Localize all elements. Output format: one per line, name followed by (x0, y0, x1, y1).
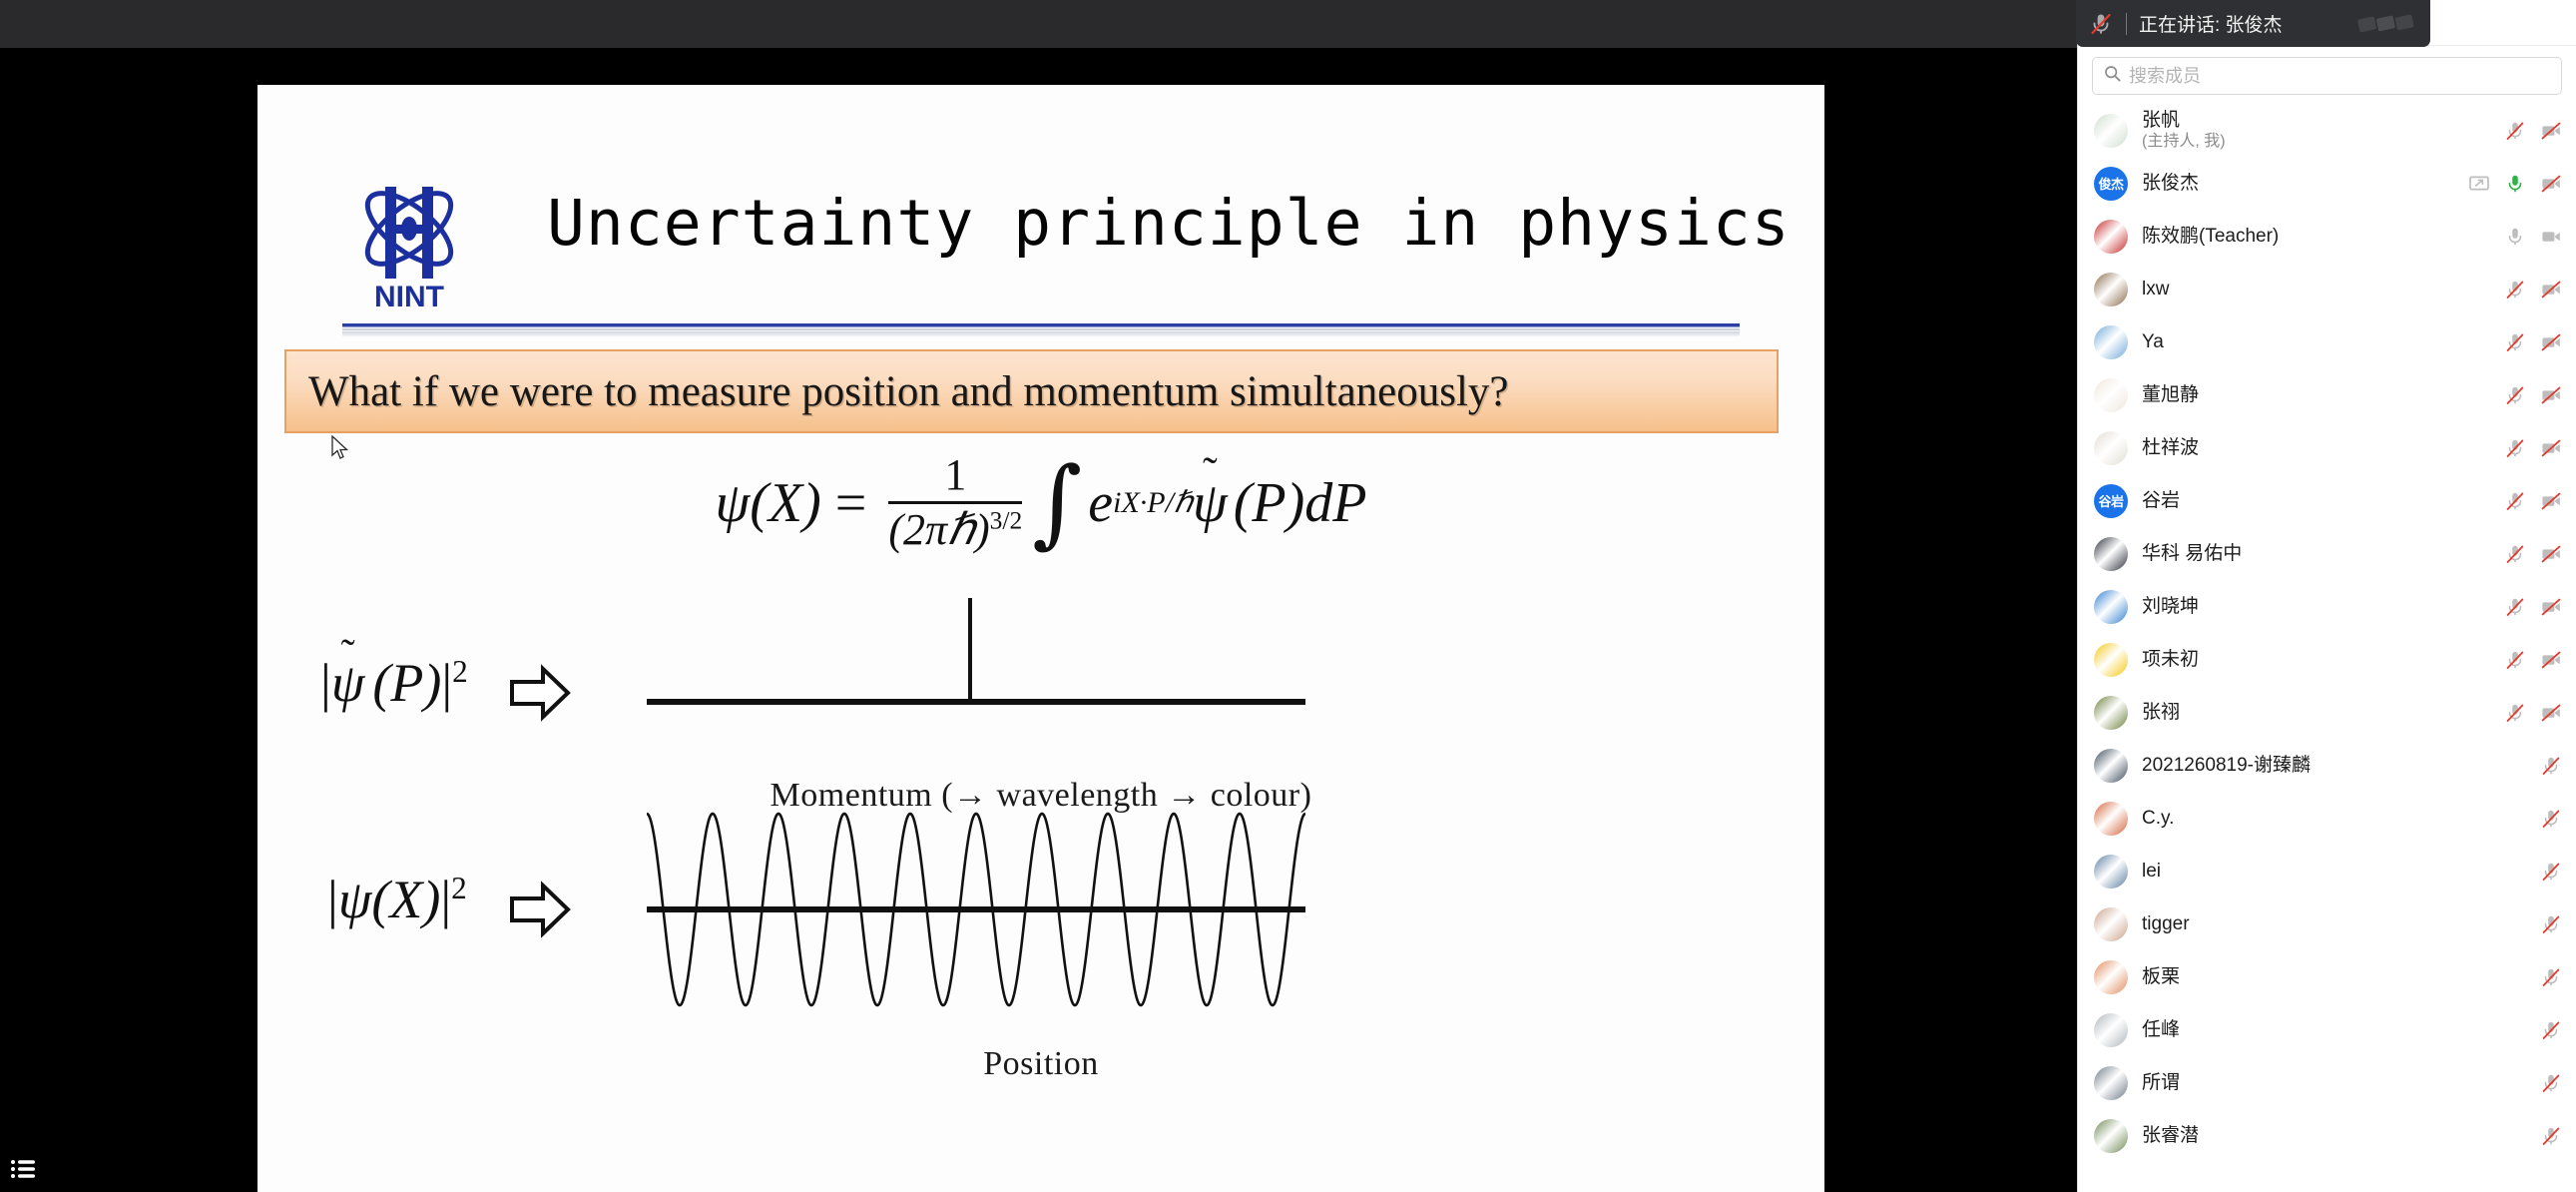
participant-name-block: 张祤 (2142, 702, 2496, 724)
participant-name-block: 2021260819-谢臻麟 (2142, 755, 2532, 777)
participant-row[interactable]: tigger (2078, 897, 2576, 950)
banner-divider (2126, 13, 2127, 35)
participant-row[interactable]: 张祤 (2078, 686, 2576, 739)
participant-status-icons (2532, 808, 2562, 830)
participant-name-block: 华科 易佑中 (2142, 543, 2496, 565)
mic-muted-icon[interactable] (2504, 331, 2526, 353)
participant-row[interactable]: 陈效鹏(Teacher) (2078, 210, 2576, 263)
momentum-exponent: 2 (452, 654, 468, 689)
participant-name-block: 张俊杰 (2142, 173, 2460, 195)
participant-name: 华科 易佑中 (2142, 543, 2496, 565)
participant-name: C.y. (2142, 808, 2532, 830)
video-muted-icon[interactable] (2540, 437, 2562, 459)
participant-status-icons (2496, 702, 2562, 724)
mic-muted-icon[interactable] (2504, 702, 2526, 724)
participant-status-icons (2460, 173, 2562, 195)
active-speaker-banner: 正在讲话: 张俊杰 (2076, 0, 2430, 47)
participant-status-icons (2496, 226, 2562, 248)
momentum-arrow-icon (509, 662, 571, 724)
search-container (2078, 46, 2576, 104)
participant-name: 所谓 (2142, 1072, 2532, 1094)
mic-muted-icon[interactable] (2504, 543, 2526, 565)
participant-name: tigger (2142, 913, 2532, 935)
mic-muted-icon[interactable] (2540, 966, 2562, 988)
participant-name: 2021260819-谢臻麟 (2142, 755, 2532, 777)
mic-muted-icon[interactable] (2504, 384, 2526, 406)
participant-row[interactable]: 任峰 (2078, 1003, 2576, 1056)
video-muted-icon[interactable] (2540, 120, 2562, 142)
mic-muted-icon[interactable] (2504, 596, 2526, 618)
participant-status-icons (2496, 437, 2562, 459)
participant-name-block: 杜祥波 (2142, 437, 2496, 459)
participant-status-icons (2532, 913, 2562, 935)
mouse-cursor (331, 435, 349, 461)
participant-name: 张帆 (2142, 110, 2496, 132)
participant-row[interactable]: 张帆(主持人, 我) (2078, 104, 2576, 157)
video-muted-icon[interactable] (2540, 173, 2562, 195)
den-pi: π (925, 505, 947, 554)
participant-row[interactable]: 张睿潜 (2078, 1109, 2576, 1162)
mic-muted-icon[interactable] (2540, 1072, 2562, 1094)
participant-row[interactable]: 刘晓坤 (2078, 580, 2576, 633)
title-divider-shadow (342, 331, 1740, 336)
formula-exp-base: e (1088, 471, 1113, 535)
share-screen-icon[interactable] (2468, 173, 2490, 195)
question-callout-box: What if we were to measure position and … (284, 349, 1779, 433)
avatar (2094, 802, 2128, 836)
mic-muted-icon[interactable] (2504, 120, 2526, 142)
participant-role: (主持人, 我) (2142, 132, 2496, 151)
video-muted-icon[interactable] (2540, 331, 2562, 353)
participant-row[interactable]: 华科 易佑中 (2078, 527, 2576, 580)
participant-name: 任峰 (2142, 1019, 2532, 1041)
participant-status-icons (2496, 596, 2562, 618)
avatar (2094, 696, 2128, 730)
momentum-arg: (P) (372, 653, 441, 713)
position-arg: (X) (371, 870, 440, 929)
avatar (2094, 1066, 2128, 1100)
slide-header: NINT Uncertainty principle in physics (258, 85, 1824, 344)
avatar (2094, 1013, 2128, 1047)
search-input[interactable] (2129, 66, 2550, 87)
participant-status-icons (2496, 649, 2562, 671)
scrollbar-thumb[interactable] (2568, 152, 2575, 571)
den-open: (2 (888, 505, 925, 554)
participant-status-icons (2496, 543, 2562, 565)
position-psi: ψ (338, 870, 372, 929)
mic-muted-icon[interactable] (2504, 490, 2526, 512)
mic-muted-icon[interactable] (2504, 279, 2526, 300)
participant-row[interactable]: 董旭静 (2078, 368, 2576, 421)
participant-row[interactable]: 谷岩谷岩 (2078, 474, 2576, 527)
formula-psi-arg: (X) (750, 471, 821, 535)
participant-name-block: C.y. (2142, 808, 2532, 830)
participant-row[interactable]: 项未初 (2078, 633, 2576, 686)
video-off-icon[interactable] (2540, 226, 2562, 248)
participant-row[interactable]: 2021260819-谢臻麟 (2078, 739, 2576, 792)
participant-status-icons (2532, 755, 2562, 777)
position-bar-open: | (327, 870, 338, 929)
participant-name-block: 董旭静 (2142, 384, 2496, 406)
formula-tilde-accent: ˜ (1203, 448, 1218, 498)
mic-muted-icon[interactable] (2540, 1019, 2562, 1041)
avatar (2094, 537, 2128, 571)
avatar (2094, 643, 2128, 677)
den-hbar: ℏ (947, 505, 975, 554)
participant-status-icons (2532, 1072, 2562, 1094)
avatar (2094, 325, 2128, 359)
participant-name-block: 陈效鹏(Teacher) (2142, 226, 2496, 248)
position-exponent: 2 (451, 871, 467, 905)
list-view-icon[interactable] (8, 1156, 38, 1182)
participant-status-icons (2496, 490, 2562, 512)
participant-name-block: 板栗 (2142, 966, 2532, 988)
slide-title: Uncertainty principle in physics (547, 187, 1791, 260)
den-exponent: 3/2 (990, 506, 1023, 535)
participant-row[interactable]: 杜祥波 (2078, 421, 2576, 474)
participant-row[interactable]: Ya (2078, 315, 2576, 368)
video-muted-icon[interactable] (2540, 490, 2562, 512)
formula-denominator: (2πℏ)3/2 (888, 504, 1022, 553)
participant-name: 杜祥波 (2142, 437, 2496, 459)
mic-muted-icon[interactable] (2540, 913, 2562, 935)
participant-name-block: 任峰 (2142, 1019, 2532, 1041)
formula-psi-tilde-arg: (P) (1234, 471, 1305, 535)
nint-logo-icon: NINT (339, 167, 479, 316)
search-icon (2104, 65, 2129, 87)
participant-name: 谷岩 (2142, 490, 2496, 512)
momentum-plot (647, 584, 1305, 714)
formula-psi-tilde: ˜ψ (1193, 471, 1228, 535)
cards-stack-icon (2356, 11, 2418, 37)
participant-name: 张俊杰 (2142, 173, 2460, 195)
participant-status-icons (2532, 1019, 2562, 1041)
position-plot (647, 798, 1305, 1021)
title-divider (342, 323, 1740, 330)
avatar (2094, 855, 2128, 889)
momentum-label: |˜ψ(P)|2 (320, 652, 468, 714)
position-caption: Position (258, 1045, 1824, 1083)
active-speaker-text: 正在讲话: 张俊杰 (2139, 10, 2356, 37)
participant-name: 张睿潜 (2142, 1125, 2532, 1147)
position-label: |ψ(X)|2 (327, 869, 467, 930)
participant-name-block: lxw (2142, 279, 2496, 300)
position-arrow-icon (509, 879, 571, 940)
participant-name-block: 张帆(主持人, 我) (2142, 110, 2496, 151)
participant-name: lxw (2142, 279, 2496, 300)
participant-name: 张祤 (2142, 702, 2496, 724)
mic-muted-icon[interactable] (2504, 437, 2526, 459)
momentum-tilde: ˜ (341, 630, 355, 679)
avatar (2094, 220, 2128, 254)
presentation-slide: NINT Uncertainty principle in physics Wh… (258, 85, 1824, 1192)
participant-name: 陈效鹏(Teacher) (2142, 226, 2496, 248)
den-close: ) (975, 505, 990, 554)
avatar (2094, 907, 2128, 941)
participant-status-icons (2496, 279, 2562, 300)
mic-muted-icon[interactable] (2504, 649, 2526, 671)
mic-active-icon[interactable] (2504, 173, 2526, 195)
participant-name-block: 项未初 (2142, 649, 2496, 671)
formula-exp-power: iX·P/ℏ (1113, 485, 1193, 520)
avatar (2094, 1119, 2128, 1153)
participant-name: lei (2142, 861, 2532, 883)
avatar (2094, 273, 2128, 306)
momentum-bar-close: | (441, 653, 452, 713)
avatar (2094, 960, 2128, 994)
participant-row[interactable]: lei (2078, 845, 2576, 897)
participant-status-icons (2496, 331, 2562, 353)
avatar (2094, 590, 2128, 624)
participant-status-icons (2532, 966, 2562, 988)
participant-name: 项未初 (2142, 649, 2496, 671)
participant-name-block: 刘晓坤 (2142, 596, 2496, 618)
avatar (2094, 114, 2128, 148)
formula-differential: dP (1304, 471, 1366, 535)
participant-list-scrollbar[interactable] (2567, 152, 2576, 1192)
participant-name-block: Ya (2142, 331, 2496, 353)
meeting-window: NINT Uncertainty principle in physics Wh… (0, 0, 2576, 1192)
avatar: 谷岩 (2094, 484, 2128, 518)
mic-muted-icon[interactable] (2540, 861, 2562, 883)
avatar (2094, 431, 2128, 465)
participant-name: 刘晓坤 (2142, 596, 2496, 618)
participant-row[interactable]: 板栗 (2078, 950, 2576, 1003)
participant-name-block: 所谓 (2142, 1072, 2532, 1094)
mic-muted-icon[interactable] (2540, 808, 2562, 830)
participant-row[interactable]: lxw (2078, 263, 2576, 315)
participant-name-block: tigger (2142, 913, 2532, 935)
participant-name-block: 张睿潜 (2142, 1125, 2532, 1147)
video-muted-icon[interactable] (2540, 596, 2562, 618)
participant-row[interactable]: 所谓 (2078, 1056, 2576, 1109)
participant-status-icons (2496, 384, 2562, 406)
avatar (2094, 378, 2128, 412)
fourier-transform-formula: ψ(X) = 1 (2πℏ)3/2 ∫ eiX·P/ℏ˜ψ(P)dP (258, 452, 1824, 553)
video-muted-icon[interactable] (2540, 702, 2562, 724)
formula-psi: ψ (716, 471, 751, 535)
participant-status-icons (2532, 861, 2562, 883)
shared-screen-stage[interactable]: NINT Uncertainty principle in physics Wh… (0, 48, 2077, 1192)
participant-name-block: 谷岩 (2142, 490, 2496, 512)
formula-integral-sign: ∫ (1032, 469, 1082, 536)
participants-panel: 管理成员(25) 张帆(主持人, 我)俊杰张俊杰陈效鹏(Teacher)lxwY… (2077, 0, 2576, 1192)
participant-status-icons (2532, 1125, 2562, 1147)
video-muted-icon[interactable] (2540, 384, 2562, 406)
video-muted-icon[interactable] (2540, 543, 2562, 565)
formula-equals: = (835, 471, 867, 535)
participant-name: Ya (2142, 331, 2496, 353)
participant-name-block: lei (2142, 861, 2532, 883)
logo-text: NINT (374, 281, 444, 313)
avatar: 俊杰 (2094, 167, 2128, 201)
position-bar-close: | (440, 870, 451, 929)
mic-muted-icon (2088, 11, 2114, 37)
participant-row[interactable]: 俊杰张俊杰 (2078, 157, 2576, 210)
participant-name: 板栗 (2142, 966, 2532, 988)
participant-name: 董旭静 (2142, 384, 2496, 406)
avatar (2094, 749, 2128, 783)
mic-muted-icon[interactable] (2540, 755, 2562, 777)
question-callout-text: What if we were to measure position and … (308, 367, 1509, 416)
momentum-bar-open: | (320, 653, 331, 713)
mic-off-icon[interactable] (2504, 226, 2526, 248)
meeting-top-bar (0, 0, 2077, 48)
momentum-psi: ˜ψ (331, 652, 365, 714)
formula-numerator: 1 (944, 452, 966, 501)
video-muted-icon[interactable] (2540, 279, 2562, 300)
search-box[interactable] (2092, 57, 2562, 95)
mic-muted-icon[interactable] (2540, 1125, 2562, 1147)
participant-list[interactable]: 张帆(主持人, 我)俊杰张俊杰陈效鹏(Teacher)lxwYa董旭静杜祥波谷岩… (2078, 104, 2576, 1192)
video-muted-icon[interactable] (2540, 649, 2562, 671)
participant-row[interactable]: C.y. (2078, 792, 2576, 845)
formula-fraction: 1 (2πℏ)3/2 (888, 452, 1022, 553)
participant-status-icons (2496, 120, 2562, 142)
